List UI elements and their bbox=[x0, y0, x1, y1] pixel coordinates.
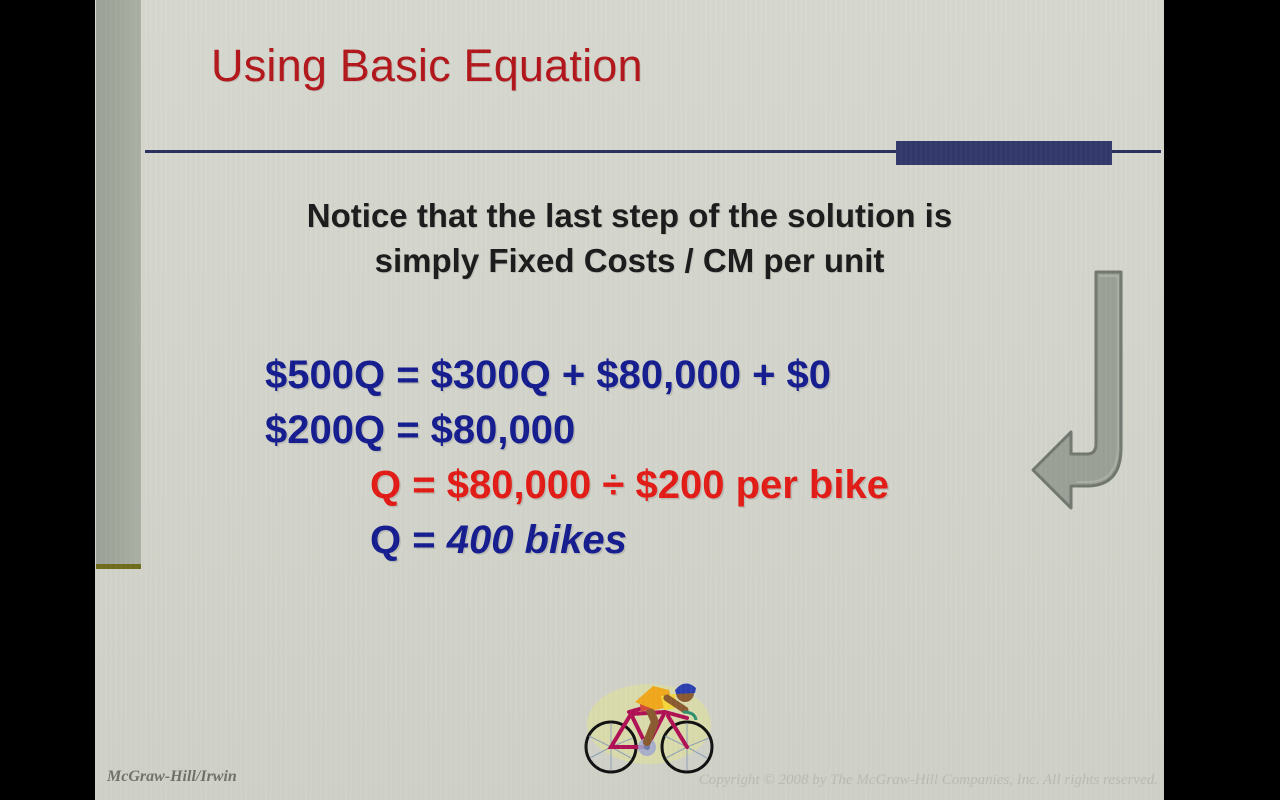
presentation-slide: Using Basic Equation Notice that the las… bbox=[95, 0, 1164, 800]
notice-text: Notice that the last step of the solutio… bbox=[95, 193, 1164, 283]
equation-line-1: $500Q = $300Q + $80,000 + $0 bbox=[95, 348, 1164, 403]
equation-line-4-answer: 400 bikes bbox=[447, 518, 627, 562]
equation-line-2: $200Q = $80,000 bbox=[95, 403, 1164, 458]
equation-line-4: Q = 400 bikes bbox=[95, 513, 1164, 568]
notice-line-2: simply Fixed Costs / CM per unit bbox=[95, 238, 1164, 283]
footer-copyright: Copyright © 2008 by The McGraw-Hill Comp… bbox=[699, 772, 1158, 789]
header-accent-block bbox=[896, 141, 1112, 165]
curved-left-arrow-icon bbox=[1025, 268, 1135, 520]
equation-block: $500Q = $300Q + $80,000 + $0 $200Q = $80… bbox=[95, 348, 1164, 568]
equation-line-3: Q = $80,000 ÷ $200 per bike bbox=[95, 458, 1164, 513]
screenshot-stage: Using Basic Equation Notice that the las… bbox=[0, 0, 1280, 800]
footer-publisher: McGraw-Hill/Irwin bbox=[107, 768, 237, 786]
page-title: Using Basic Equation bbox=[211, 38, 643, 94]
notice-line-1: Notice that the last step of the solutio… bbox=[95, 193, 1164, 238]
cyclist-bicycle-icon bbox=[569, 668, 729, 780]
equation-line-4-prefix: Q = bbox=[370, 518, 447, 562]
